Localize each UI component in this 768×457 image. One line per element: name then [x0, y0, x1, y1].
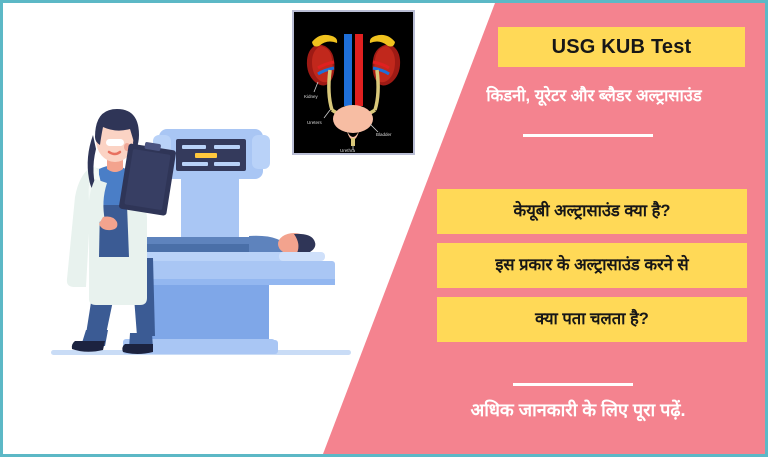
question-label-2: इस प्रकार के अल्ट्रासाउंड करने से: [495, 256, 688, 274]
divider-top: [523, 134, 653, 137]
subtitle: किडनी, यूरेटर और ब्लैडर अल्ट्रासाउंड: [439, 83, 749, 106]
divider-bottom: [513, 383, 633, 386]
svg-text:Kidney: Kidney: [304, 94, 319, 99]
svg-text:Urethra: Urethra: [340, 148, 356, 153]
question-box-3: क्या पता चलता है?: [437, 297, 747, 342]
title-box: USG KUB Test: [498, 27, 745, 67]
svg-text:Ureters: Ureters: [307, 120, 323, 125]
question-box-2: इस प्रकार के अल्ट्रासाउंड करने से: [437, 243, 747, 288]
urinary-system-diagram: Kidney Ureters Bladder Urethra: [292, 10, 415, 155]
question-box-1: केयूबी अल्ट्रासाउंड क्या है?: [437, 189, 747, 234]
question-label-1: केयूबी अल्ट्रासाउंड क्या है?: [514, 202, 671, 220]
urinary-system-svg: Kidney Ureters Bladder Urethra: [294, 12, 413, 153]
footer-text: अधिक जानकारी के लिए पूरा पढ़ें.: [413, 398, 743, 422]
svg-text:Bladder: Bladder: [376, 132, 392, 137]
page-title: USG KUB Test: [552, 36, 692, 59]
poster: Kidney Ureters Bladder Urethra USG KUB T…: [0, 0, 768, 457]
question-label-3: क्या पता चलता है?: [535, 310, 649, 328]
